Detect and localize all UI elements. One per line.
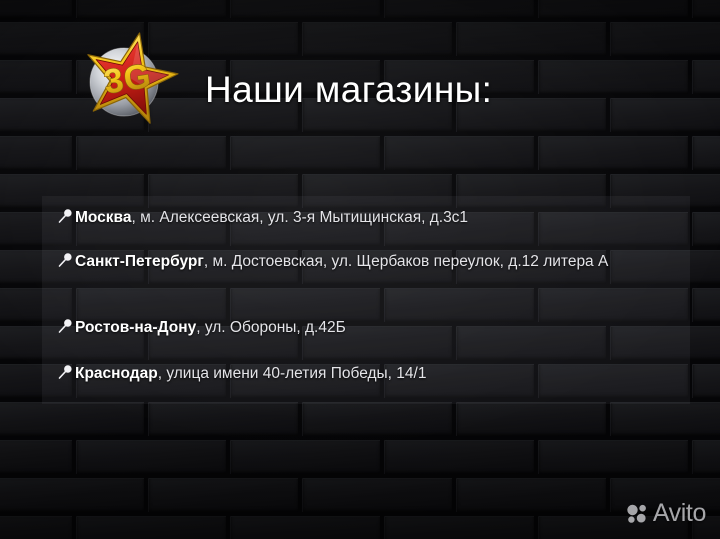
store-address: , улица имени 40-летия Победы, 14/1 — [158, 365, 427, 382]
store-address: , ул. Обороны, д.42Б — [196, 319, 346, 336]
svg-text:3G: 3G — [101, 57, 154, 102]
brick — [384, 0, 534, 18]
brick-row — [0, 136, 720, 174]
pin-icon — [58, 318, 73, 334]
brick-row — [0, 0, 720, 22]
brick — [692, 212, 720, 246]
brick — [610, 22, 720, 56]
store-city: Ростов-на-Дону — [75, 319, 196, 336]
brick — [0, 60, 72, 94]
logo-text: 3G — [101, 57, 154, 102]
list-item[interactable]: Санкт-Петербург, м. Достоевская, ул. Щер… — [58, 250, 676, 274]
brick — [692, 364, 720, 398]
list-item[interactable]: Москва, м. Алексеевская, ул. 3-я Мытищин… — [58, 206, 676, 230]
brick — [0, 478, 144, 512]
page-title: Наши магазины: — [205, 68, 492, 112]
brick — [148, 478, 298, 512]
brick — [0, 0, 72, 18]
brick — [76, 516, 226, 539]
brick-row — [0, 478, 720, 516]
brick — [302, 478, 452, 512]
brick — [456, 478, 606, 512]
brick — [538, 0, 688, 18]
brick-row — [0, 402, 720, 440]
brick — [692, 60, 720, 94]
store-address: , м. Алексеевская, ул. 3-я Мытищинская, … — [132, 209, 469, 226]
brick — [0, 402, 144, 436]
brick — [230, 0, 380, 18]
brick-row — [0, 440, 720, 478]
avito-watermark: Avito — [627, 501, 706, 526]
list-item[interactable]: Ростов-на-Дону, ул. Обороны, д.42Б — [58, 316, 676, 340]
brick — [692, 288, 720, 322]
avito-label: Avito — [653, 501, 706, 526]
avito-dots-icon — [627, 504, 648, 523]
pin-icon — [58, 252, 73, 268]
store-city: Краснодар — [75, 365, 158, 382]
brick — [76, 440, 226, 474]
brick — [384, 516, 534, 539]
brick — [538, 60, 688, 94]
brick — [302, 22, 452, 56]
brick — [0, 440, 72, 474]
brick-row — [0, 516, 720, 539]
store-city: Санкт-Петербург — [75, 253, 204, 270]
screenshot-root: 3G Наши магазины: Москва, м. Алексеевска… — [0, 0, 720, 539]
brick — [538, 136, 688, 170]
brick — [692, 136, 720, 170]
brick — [0, 516, 72, 539]
brick — [538, 440, 688, 474]
brick — [230, 516, 380, 539]
pin-icon — [58, 208, 73, 224]
store-address: , м. Достоевская, ул. Щербаков переулок,… — [204, 253, 609, 270]
brick — [384, 136, 534, 170]
brick — [456, 402, 606, 436]
stores-panel: Москва, м. Алексеевская, ул. 3-я Мытищин… — [42, 196, 690, 404]
brick — [230, 136, 380, 170]
brick — [76, 136, 226, 170]
store-city: Москва — [75, 209, 132, 226]
brick — [384, 440, 534, 474]
stores-list: Москва, м. Алексеевская, ул. 3-я Мытищин… — [42, 196, 690, 404]
3g-star-logo: 3G — [74, 24, 186, 136]
brick — [0, 136, 72, 170]
list-item[interactable]: Краснодар, улица имени 40-летия Победы, … — [58, 362, 676, 386]
brick — [610, 402, 720, 436]
brick — [230, 440, 380, 474]
brick — [302, 402, 452, 436]
brick — [148, 402, 298, 436]
brick — [76, 0, 226, 18]
brick — [610, 98, 720, 132]
pin-icon — [58, 364, 73, 380]
brick — [692, 440, 720, 474]
brick — [456, 22, 606, 56]
brick — [692, 0, 720, 18]
